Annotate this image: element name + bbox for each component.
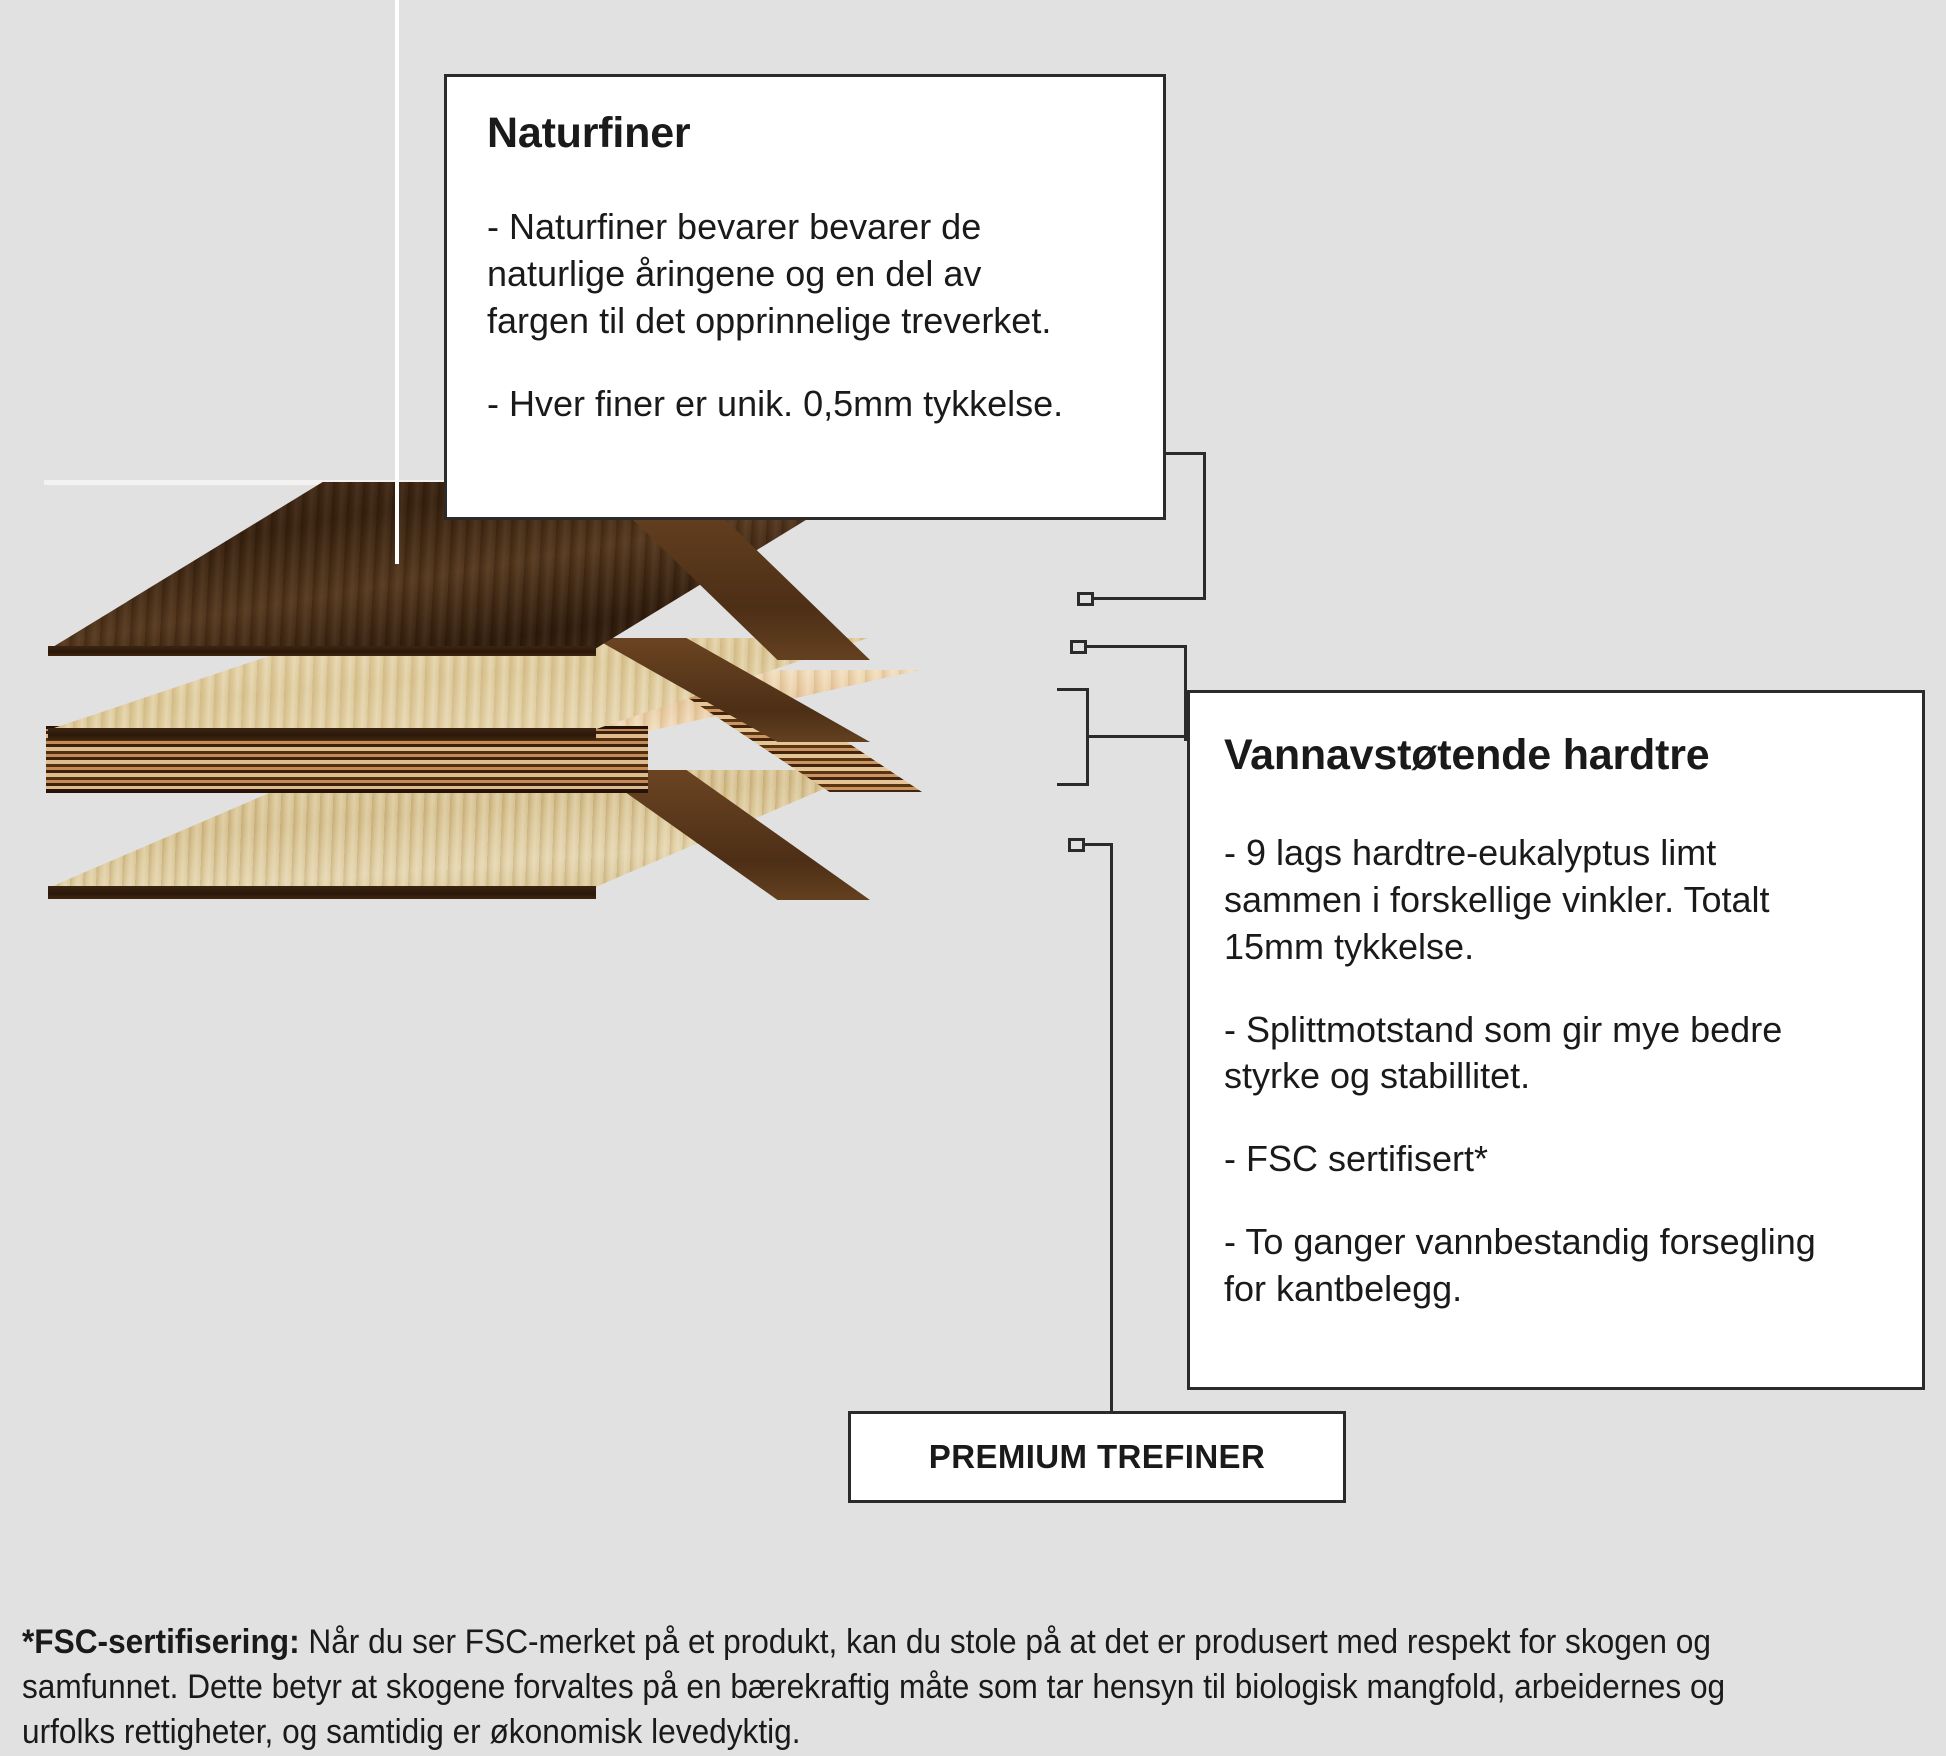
- hardtre-paragraph-1: - 9 lags hardtre-eukalyptus limt sammen …: [1224, 830, 1896, 970]
- upper-birch-front-rim: [48, 728, 596, 740]
- callout-naturfiner: Naturfiner - Naturfiner bevarer bevarer …: [444, 74, 1166, 520]
- leader-hardtre-a-h: [1085, 645, 1187, 648]
- leader-premium-v: [1110, 843, 1113, 1415]
- hardtre-paragraph-3: - FSC sertifisert*: [1224, 1136, 1896, 1183]
- naturfiner-paragraph-2: - Hver finer er unik. 0,5mm tykkelse.: [487, 381, 1129, 428]
- hardtre-title: Vannavstøtende hardtre: [1224, 733, 1896, 778]
- naturfiner-title: Naturfiner: [487, 111, 1129, 156]
- leader-nub-upper-birch: [1070, 640, 1087, 654]
- callout-premium-trefiner: PREMIUM TREFINER: [848, 1411, 1346, 1503]
- callout-vannavstotende-hardtre: Vannavstøtende hardtre - 9 lags hardtre-…: [1187, 690, 1925, 1390]
- leader-hardtre-b-h: [1086, 735, 1187, 738]
- leader-nub-bottom-birch: [1068, 838, 1085, 852]
- premium-trefiner-label: PREMIUM TREFINER: [929, 1438, 1265, 1476]
- hardtre-paragraph-4: - To ganger vannbestandig forsegling for…: [1224, 1219, 1896, 1313]
- fsc-footnote-lead: *FSC-sertifisering:: [22, 1623, 300, 1661]
- naturfiner-paragraph-1: - Naturfiner bevarer bevarer de naturlig…: [487, 204, 1129, 344]
- hardtre-paragraph-2: - Splittmotstand som gir mye bedre styrk…: [1224, 1007, 1896, 1101]
- exploded-panel-stack: [0, 560, 1140, 1060]
- leader-nub-top-veneer: [1077, 592, 1094, 606]
- naturfiner-pointer-line: [395, 0, 399, 564]
- leader-naturfiner-h2: [1164, 452, 1206, 455]
- leader-naturfiner-v: [1203, 452, 1206, 600]
- leader-bracket-core: [1057, 688, 1089, 786]
- core-edge-line-bottom: [46, 789, 648, 793]
- leader-naturfiner-h: [1092, 597, 1206, 600]
- bottom-birch-front-rim: [48, 886, 596, 899]
- fsc-footnote: *FSC-sertifisering: Når du ser FSC-merke…: [22, 1620, 1789, 1756]
- top-veneer-front-rim: [48, 646, 596, 656]
- leader-premium-h: [1083, 843, 1113, 846]
